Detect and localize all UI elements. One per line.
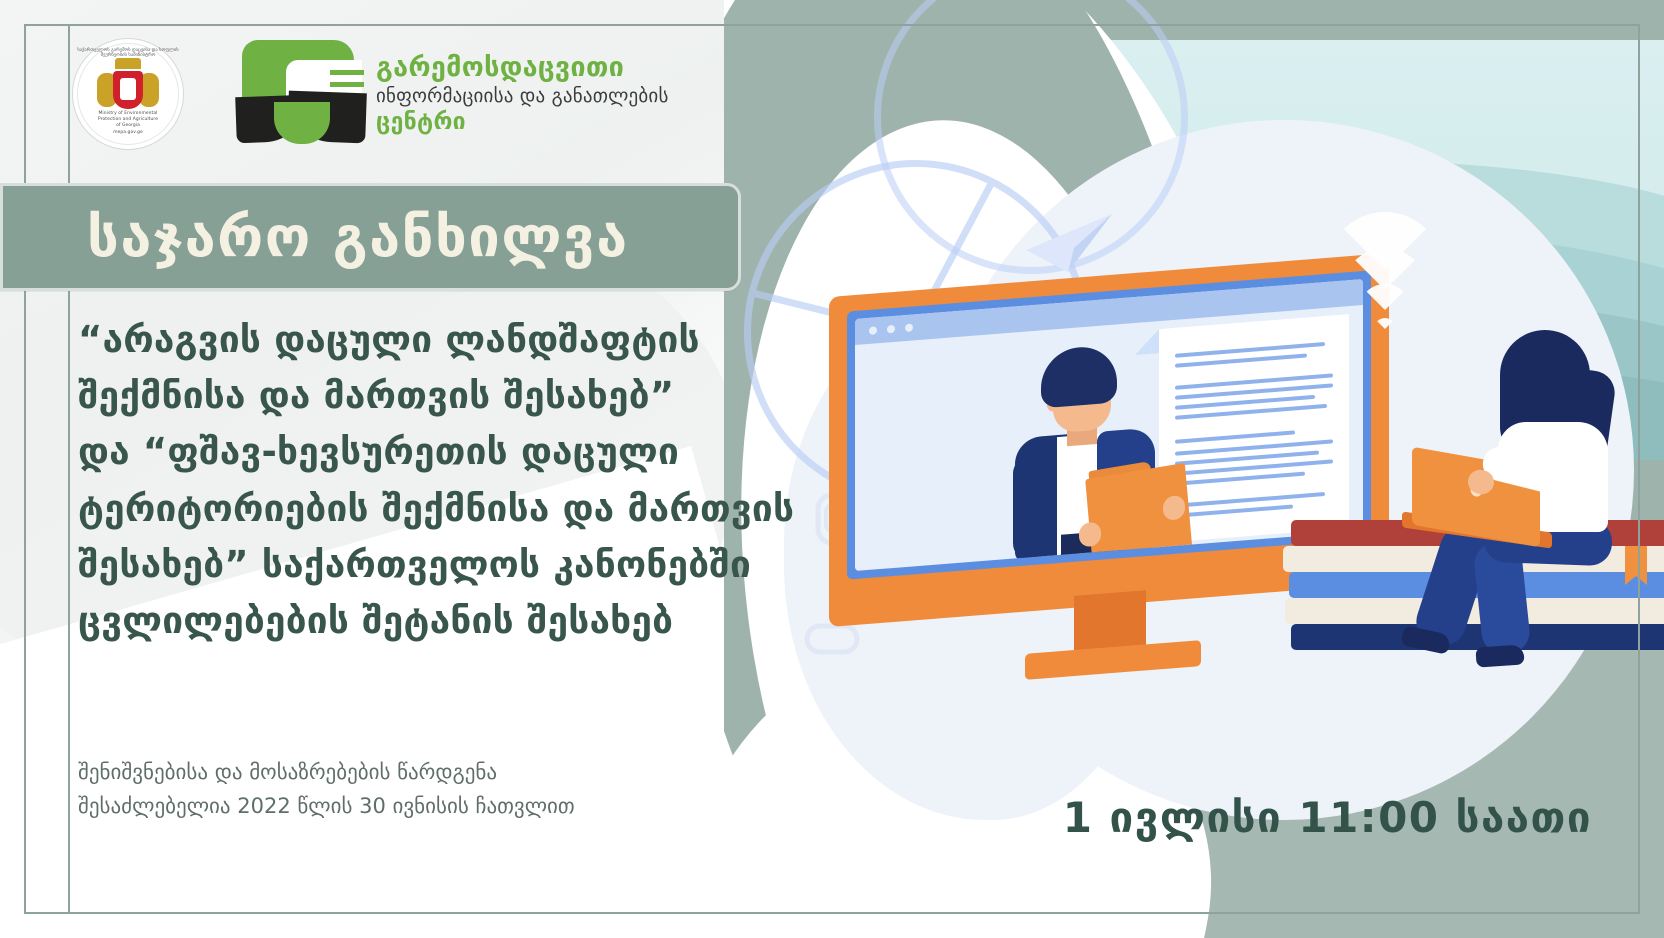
body-line: შესახებ” საქართველოს კანონებში — [78, 537, 738, 593]
note-line: შენიშვნებისა და მოსაზრებების წარდგენა — [78, 755, 718, 789]
logo-row: საქართველოს გარემოს დაცვისა და სოფლის მე… — [72, 38, 669, 150]
gic-logo: გარემოსდაცვითი ინფორმაციისა და განათლები… — [242, 40, 669, 148]
gic-text-line1: გარემოსდაცვითი — [376, 52, 669, 85]
poster-frame-vertical-rule — [68, 24, 70, 914]
emblem-arc-text: საქართველოს გარემოს დაცვისა და სოფლის მე… — [73, 48, 183, 58]
page-title: საჯარო განხილვა — [87, 205, 629, 270]
body-line: ცვლილებების შეტანის შესახებ — [78, 593, 738, 649]
event-datetime: 1 ივლისი 11:00 საათი — [1063, 793, 1592, 842]
paperclip-icon — [802, 620, 862, 658]
presenter-man-figure — [1005, 338, 1195, 563]
gic-logo-text: გარემოსდაცვითი ინფორმაციისა და განათლები… — [376, 52, 669, 136]
man-hair — [1041, 344, 1117, 408]
title-banner: საჯარო განხილვა — [0, 183, 741, 291]
paper-plane-icon — [1024, 210, 1114, 274]
poster-canvas: საქართველოს გარემოს დაცვისა და სოფლის მე… — [0, 0, 1664, 938]
ministry-emblem-logo: საქართველოს გარემოს დაცვისა და სოფლის მე… — [72, 38, 184, 150]
emblem-caption-line: mepa.gov.ge — [73, 130, 183, 136]
announcement-body: “არაგვის დაცული ლანდშაფტის შექმნისა და მ… — [78, 312, 738, 649]
gic-bar — [330, 70, 364, 75]
shield-icon — [113, 71, 143, 109]
body-line: და “ფშავ-ხევსურეთის დაცული — [78, 424, 738, 480]
crown-icon — [115, 58, 141, 69]
woman-shoe — [1475, 644, 1524, 667]
body-line: ტერიტორიების შექმნისა და მართვის — [78, 481, 738, 537]
shield-body — [113, 71, 143, 109]
man-arm — [1013, 454, 1047, 561]
body-line: “არაგვის დაცული ლანდშაფტის — [78, 312, 738, 368]
gic-bar — [330, 82, 364, 87]
gic-text-line3: ცენტრი — [376, 108, 669, 136]
emblem-caption: Ministry of Environmental Protection and… — [73, 111, 183, 137]
gic-logo-mark — [242, 40, 360, 148]
gic-text-line2: ინფორმაციისა და განათლების — [376, 85, 669, 108]
body-line: შექმნისა და მართვის შესახებ” — [78, 368, 738, 424]
wifi-icon — [1320, 250, 1450, 340]
note-line: შესაძლებელია 2022 წლის 30 ივნისის ჩათვლი… — [78, 789, 718, 823]
submission-note: შენიშვნებისა და მოსაზრებების წარდგენა შე… — [78, 755, 718, 823]
coat-of-arms — [97, 68, 159, 114]
woman-with-laptop-figure — [1464, 330, 1664, 630]
